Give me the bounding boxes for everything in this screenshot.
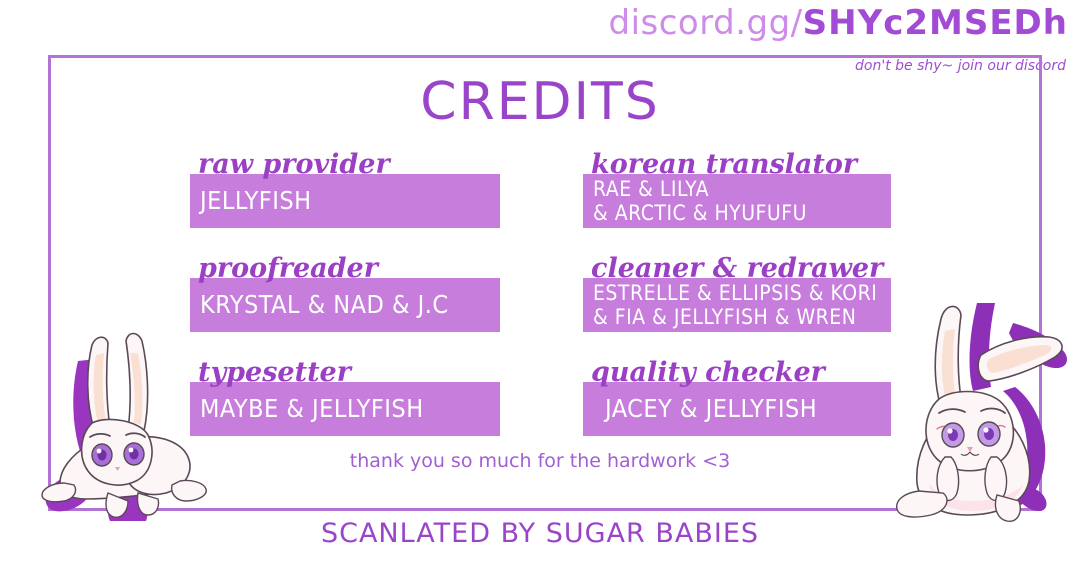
- credit-block-korean-translator: korean translator RAE & LILYA & ARCTIC &…: [583, 150, 913, 228]
- credits-column-right: korean translator RAE & LILYA & ARCTIC &…: [583, 150, 913, 436]
- role-label-korean-translator: korean translator: [591, 150, 913, 180]
- name-bar-raw-provider: JELLYFISH: [190, 174, 500, 228]
- credits-column-left: raw provider JELLYFISH proofreader KRYST…: [190, 150, 520, 436]
- credit-name: & ARCTIC & HYUFUFU: [593, 201, 891, 225]
- name-bar-typesetter: MAYBE & JELLYFISH: [190, 382, 500, 436]
- credit-name: ESTRELLE & ELLIPSIS & KORI: [593, 281, 891, 305]
- role-label-raw-provider: raw provider: [198, 150, 520, 180]
- credits-page: discord.gg/SHYc2MSEDh don't be shy~ join…: [0, 0, 1080, 563]
- credit-block-proofreader: proofreader KRYSTAL & NAD & J.C: [190, 254, 520, 332]
- credit-name: JACEY & JELLYFISH: [605, 395, 817, 423]
- page-title: CREDITS: [0, 72, 1080, 132]
- credit-block-cleaner-redrawer: cleaner & redrawer ESTRELLE & ELLIPSIS &…: [583, 254, 913, 332]
- role-label-typesetter: typesetter: [198, 358, 520, 388]
- role-label-cleaner-redrawer: cleaner & redrawer: [591, 254, 913, 284]
- name-bar-proofreader: KRYSTAL & NAD & J.C: [190, 278, 500, 332]
- bunny-sitting-illustration: [895, 295, 1080, 525]
- credit-name: & FIA & JELLYFISH & WREN: [593, 305, 891, 329]
- credit-block-typesetter: typesetter MAYBE & JELLYFISH: [190, 358, 520, 436]
- name-bar-cleaner-redrawer: ESTRELLE & ELLIPSIS & KORI & FIA & JELLY…: [583, 278, 891, 332]
- credit-name: JELLYFISH: [200, 187, 312, 215]
- credit-name: RAE & LILYA: [593, 177, 891, 201]
- name-bar-quality-checker: JACEY & JELLYFISH: [583, 382, 891, 436]
- credit-name: KRYSTAL & NAD & J.C: [200, 291, 449, 319]
- credit-block-raw-provider: raw provider JELLYFISH: [190, 150, 520, 228]
- credit-name: MAYBE & JELLYFISH: [200, 395, 424, 423]
- bunny-right-icon: [895, 295, 1080, 525]
- discord-invite-link[interactable]: discord.gg/SHYc2MSEDh: [609, 6, 1069, 40]
- role-label-proofreader: proofreader: [198, 254, 520, 284]
- role-label-quality-checker: quality checker: [591, 358, 913, 388]
- credit-block-quality-checker: quality checker JACEY & JELLYFISH: [583, 358, 913, 436]
- discord-invite-code: SHYc2MSEDh: [803, 3, 1068, 43]
- discord-url-prefix: discord.gg/: [609, 3, 803, 43]
- name-bar-korean-translator: RAE & LILYA & ARCTIC & HYUFUFU: [583, 174, 891, 228]
